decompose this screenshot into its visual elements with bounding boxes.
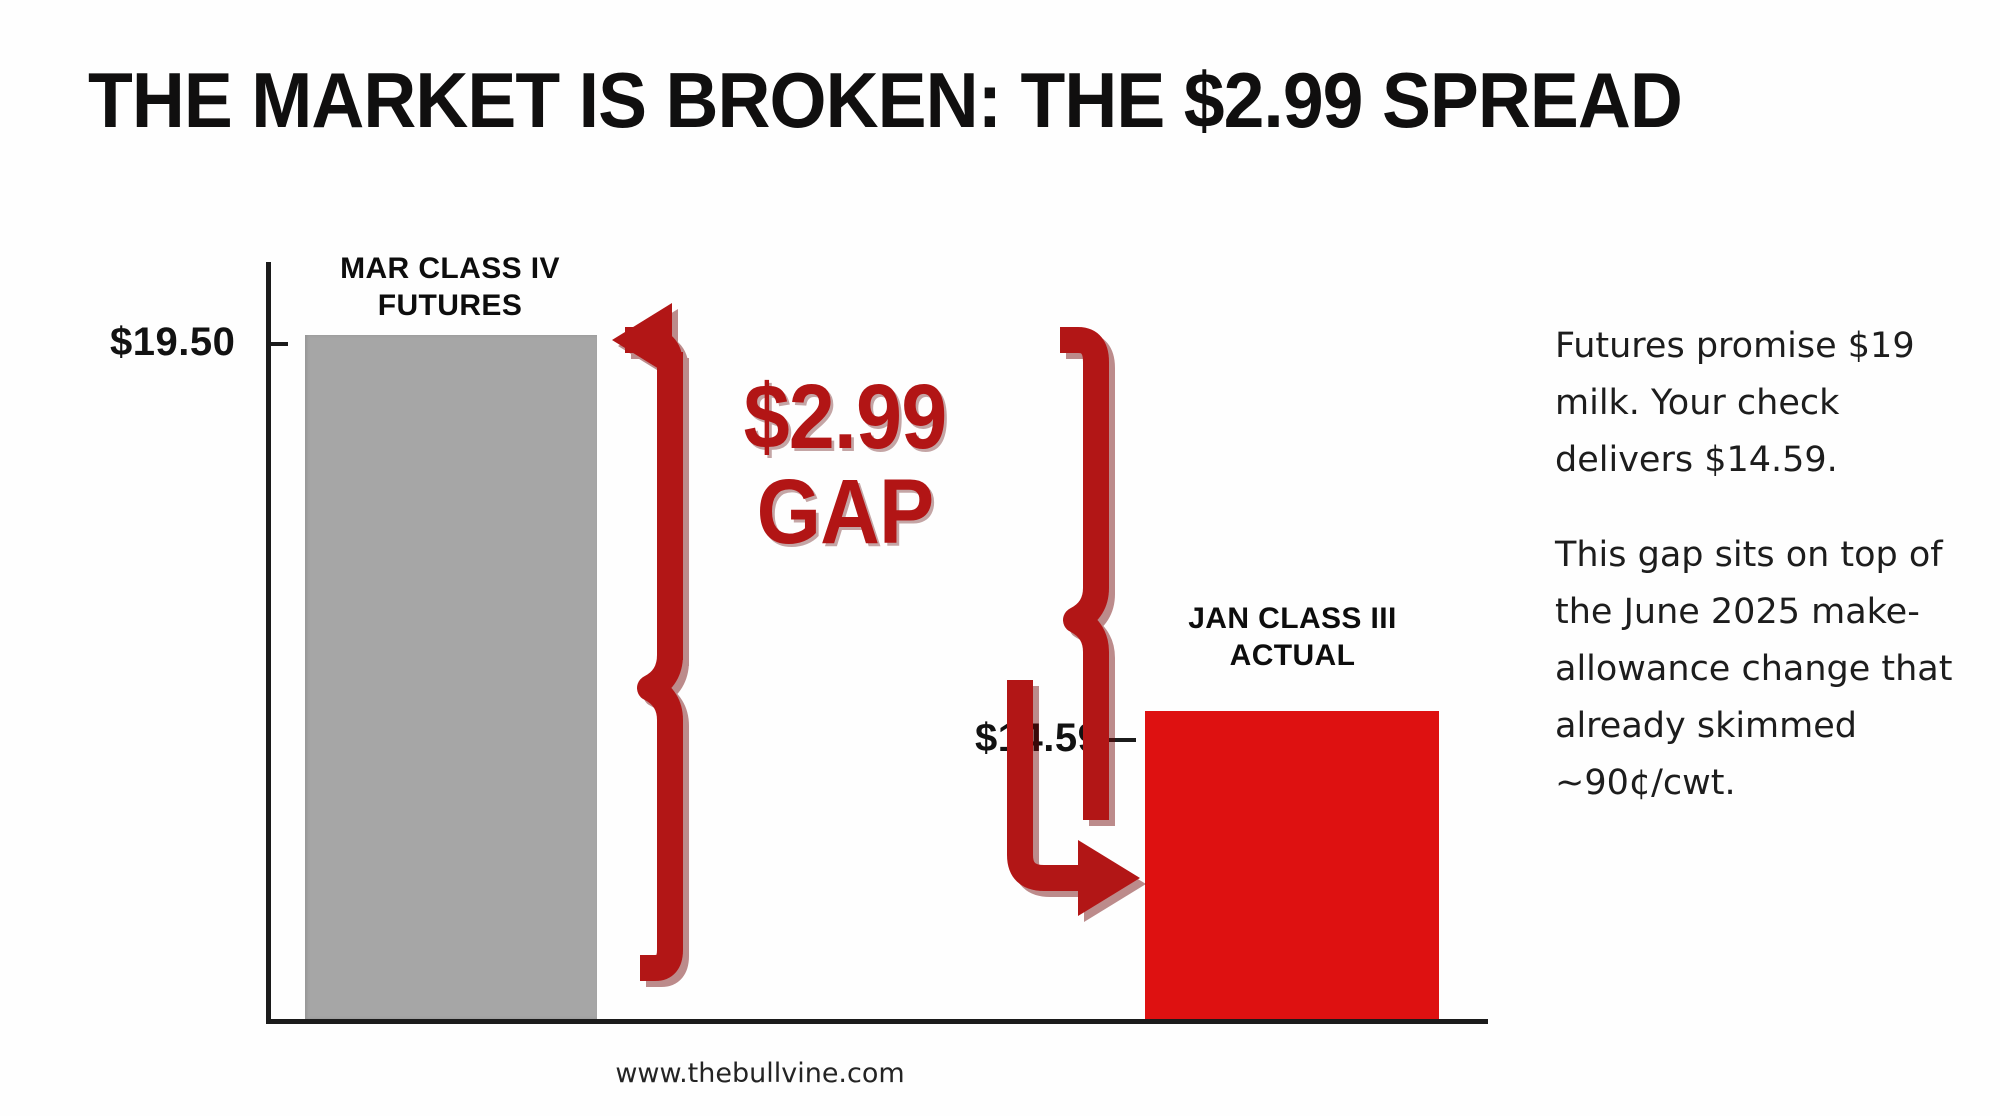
infographic-canvas: THE MARKET IS BROKEN: THE $2.99 SPREAD $… [0,0,2000,1116]
value-label-actual: $14.59 [975,716,1100,761]
commentary-panel: Futures promise $19 milk. Your check del… [1555,318,1975,850]
bar-caption-futures: MAR CLASS IV FUTURES [300,250,600,324]
x-axis-line [266,1019,1488,1024]
left-bracket-arrow-icon [612,303,672,968]
commentary-paragraph-1: Futures promise $19 milk. Your check del… [1555,318,1975,489]
y-tick-19-50 [266,342,288,346]
right-bracket-arrow-icon [1020,340,1140,916]
y-tick-14-59 [1108,738,1136,742]
source-watermark: www.thebullvine.com [0,1058,1520,1089]
y-axis-line [266,262,271,1024]
bar-mar-class-iv-futures [305,335,597,1019]
commentary-paragraph-2: This gap sits on top of the June 2025 ma… [1555,527,1975,812]
bar-caption-actual: JAN CLASS III ACTUAL [1140,600,1445,674]
bar-chart: $19.50 MAR CLASS IV FUTURES $14.59 JAN C… [0,0,1520,1116]
gap-amount-label: $2.99 GAP [715,370,976,560]
value-label-futures: $19.50 [110,320,235,365]
bar-jan-class-iii-actual [1145,711,1439,1019]
